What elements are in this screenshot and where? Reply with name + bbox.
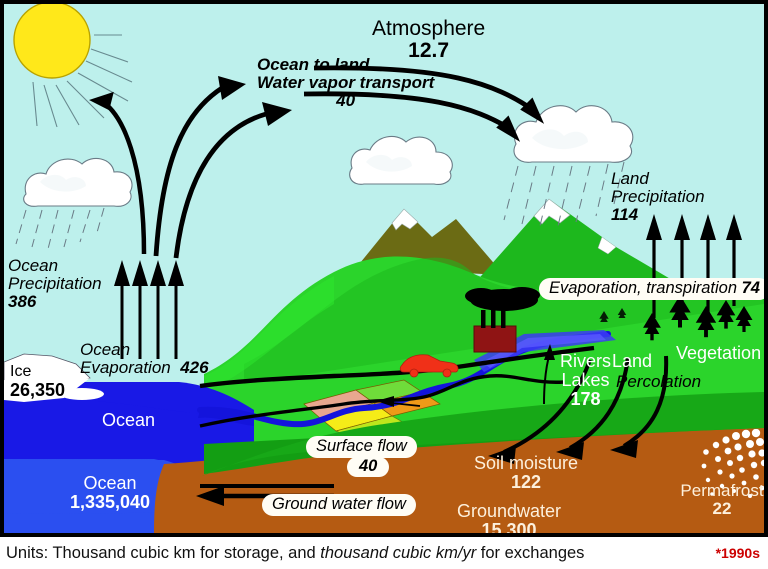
evapotranspiration-value: 74 xyxy=(742,279,760,297)
land-percolation-word: Percolation xyxy=(616,373,701,391)
atmosphere-name: Atmosphere xyxy=(372,17,485,40)
land-precipitation-line2: Precipitation xyxy=(611,187,705,206)
vapor-transport-line2: Water vapor transport xyxy=(257,73,434,92)
land-precipitation-value: 114 xyxy=(611,205,638,224)
surface-flow-name: Surface flow xyxy=(316,437,407,455)
permafrost-value: 22 xyxy=(713,499,732,518)
evapotranspiration-text: Evaporation, transpiration xyxy=(549,279,737,297)
caption-bar: Units: Thousand cubic km for storage, an… xyxy=(0,537,768,569)
ocean-evaporation-line1: Ocean xyxy=(80,340,130,359)
soil-moisture-name: Soil moisture xyxy=(474,453,578,473)
ocean-evaporation-label: Ocean Evaporation 426 xyxy=(80,341,209,377)
rivers-line: Rivers xyxy=(560,351,611,371)
ocean-storage-value: 1,335,040 xyxy=(70,492,150,512)
groundwater-label: Groundwater 15,300 xyxy=(434,502,584,537)
land-percolation-line2: Percolation xyxy=(616,372,701,391)
soil-moisture-value: 122 xyxy=(511,472,541,492)
water-cycle-diagram: Atmosphere 12.7 Ocean to land Water vapo… xyxy=(0,0,768,569)
ocean-precipitation-line1: Ocean xyxy=(8,256,58,275)
ice-name: Ice xyxy=(10,363,31,380)
caption-part2: for exchanges xyxy=(476,544,584,562)
caption-part1: Units: Thousand cubic km for storage, an… xyxy=(6,544,320,562)
groundwater-name: Groundwater xyxy=(457,501,561,521)
ocean-evaporation-line2: Evaporation xyxy=(80,358,171,377)
rivers-lakes-label: Rivers Lakes 178 xyxy=(560,352,611,409)
permafrost-label: Permafrost 22 xyxy=(672,482,768,518)
surface-flow-label: Surface flow xyxy=(306,436,417,458)
vegetation-label: Vegetation xyxy=(676,344,761,363)
ground-water-flow-name: Ground water flow xyxy=(272,495,406,513)
vapor-transport-line1: Ocean to land xyxy=(257,55,369,74)
vapor-transport-label: Ocean to land Water vapor transport 40 xyxy=(257,56,434,110)
caption-italic: thousand cubic km/yr xyxy=(320,544,476,562)
ocean-precipitation-value: 386 xyxy=(8,292,36,311)
ocean-precipitation-line2: Precipitation xyxy=(8,274,102,293)
ocean-storage-name: Ocean xyxy=(83,473,136,493)
caption-note: *1990s xyxy=(716,545,760,561)
ice-value: 26,350 xyxy=(10,380,65,400)
ground-water-flow-label: Ground water flow xyxy=(262,494,416,516)
ocean-precipitation-label: Ocean Precipitation 386 xyxy=(8,257,102,311)
land-percolation-land: Land xyxy=(612,352,652,371)
caption-text: Units: Thousand cubic km for storage, an… xyxy=(0,544,584,563)
land-precipitation-line1: Land xyxy=(611,169,649,188)
surface-flow-value: 40 xyxy=(359,457,377,475)
ocean-evaporation-value: 426 xyxy=(180,358,208,377)
ice-label: Ice 26,350 xyxy=(10,364,65,401)
rivers-lakes-value: 178 xyxy=(570,389,600,409)
surface-flow-value-badge: 40 xyxy=(347,457,389,477)
ocean-storage-label: Ocean 1,335,040 xyxy=(40,474,180,512)
vegetation-name: Vegetation xyxy=(676,343,761,363)
evapotranspiration-label: Evaporation, transpiration 74 xyxy=(539,278,768,300)
diagram-frame: Atmosphere 12.7 Ocean to land Water vapo… xyxy=(0,0,768,537)
groundwater-value: 15,300 xyxy=(481,520,536,537)
land-precipitation-label: Land Precipitation 114 xyxy=(611,170,705,224)
land-percolation-line1: Land xyxy=(612,351,652,371)
ocean-surface-name: Ocean xyxy=(102,410,155,430)
permafrost-name: Permafrost xyxy=(680,481,763,500)
ocean-surface-label: Ocean xyxy=(102,411,155,430)
lakes-line: Lakes xyxy=(561,370,609,390)
soil-moisture-label: Soil moisture 122 xyxy=(456,454,596,492)
vapor-transport-value: 40 xyxy=(257,92,434,110)
